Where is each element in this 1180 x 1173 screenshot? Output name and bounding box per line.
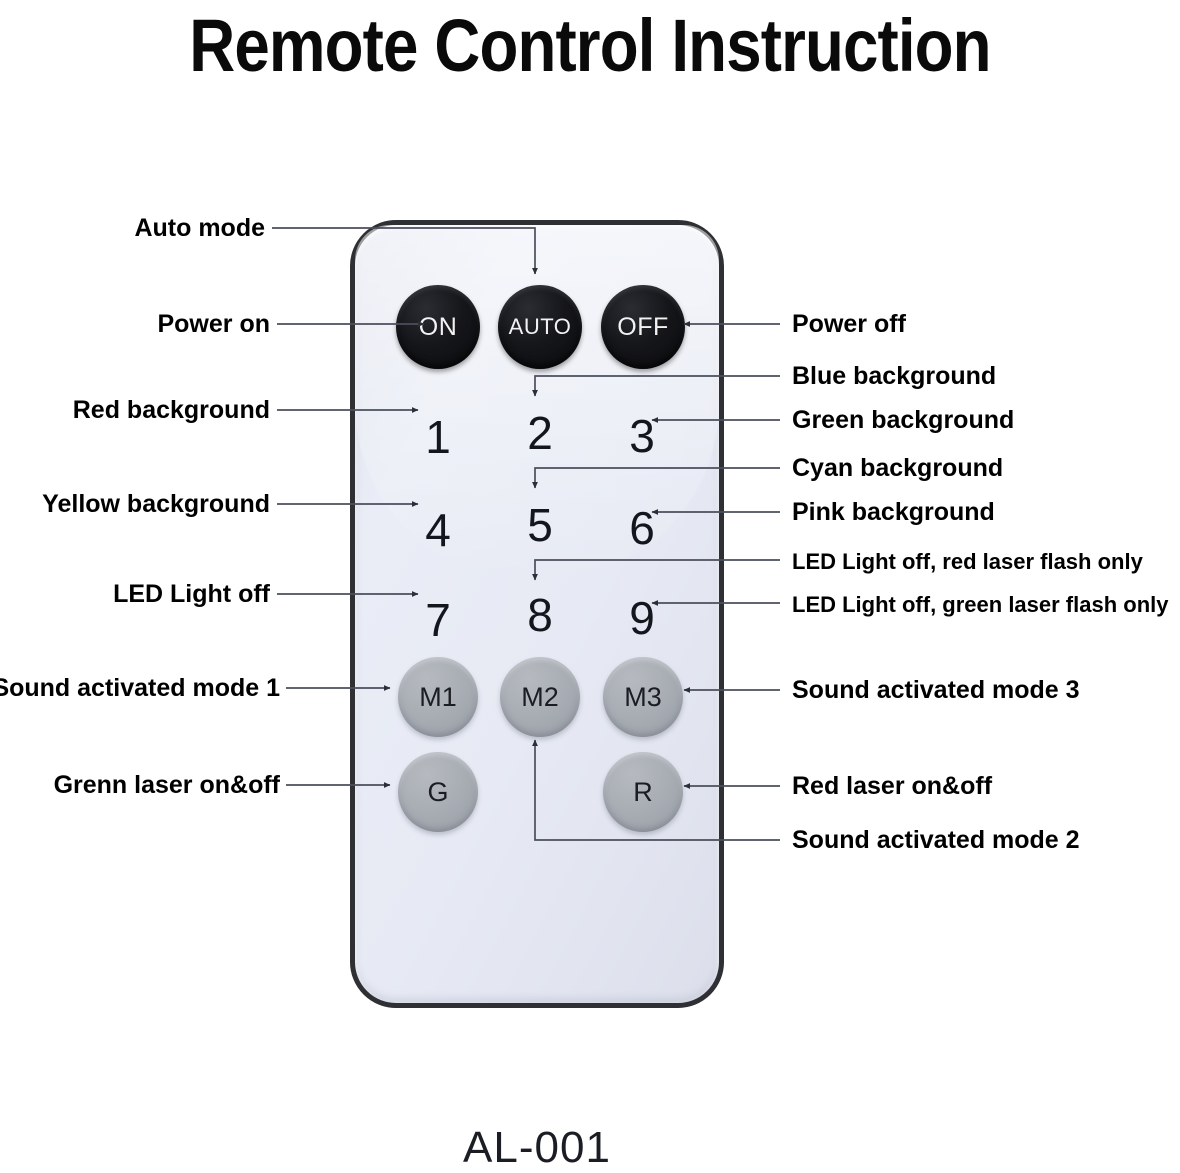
callout-yellow-background: Yellow background xyxy=(42,490,270,518)
button-auto-label: AUTO xyxy=(509,314,572,340)
button-6[interactable]: 6 xyxy=(612,501,672,555)
callout-cyan-background: Cyan background xyxy=(792,454,1003,482)
callout-auto-mode: Auto mode xyxy=(134,214,265,242)
callout-sound-mode-1: Sound activated mode 1 xyxy=(0,674,280,702)
button-4[interactable]: 4 xyxy=(408,503,468,557)
button-m2[interactable]: M2 xyxy=(500,657,580,737)
callout-led-off-red-laser: LED Light off, red laser flash only xyxy=(792,548,1143,576)
button-on[interactable]: ON xyxy=(396,285,480,369)
callout-sound-mode-2: Sound activated mode 2 xyxy=(792,826,1080,854)
button-1[interactable]: 1 xyxy=(408,410,468,464)
button-m3-label: M3 xyxy=(624,682,662,713)
remote-control-body: ON AUTO OFF 1 2 3 4 5 6 7 8 9 M1 M2 M3 G… xyxy=(350,220,724,1008)
button-3[interactable]: 3 xyxy=(612,409,672,463)
button-7[interactable]: 7 xyxy=(408,593,468,647)
button-auto[interactable]: AUTO xyxy=(498,285,582,369)
button-green-laser[interactable]: G xyxy=(398,752,478,832)
callout-led-off-green-laser: LED Light off, green laser flash only xyxy=(792,591,1169,619)
button-r-label: R xyxy=(633,777,653,808)
button-m3[interactable]: M3 xyxy=(603,657,683,737)
callout-led-light-off: LED Light off xyxy=(113,580,270,608)
callout-sound-mode-3: Sound activated mode 3 xyxy=(792,676,1080,704)
callout-red-background: Red background xyxy=(73,396,270,424)
page-title: Remote Control Instruction xyxy=(83,4,1098,88)
model-number-label: AL-001 xyxy=(355,1123,719,1173)
button-off-label: OFF xyxy=(617,313,669,342)
button-m1[interactable]: M1 xyxy=(398,657,478,737)
callout-pink-background: Pink background xyxy=(792,498,995,526)
button-9[interactable]: 9 xyxy=(612,591,672,645)
callout-green-background: Green background xyxy=(792,406,1014,434)
button-off[interactable]: OFF xyxy=(601,285,685,369)
callout-blue-background: Blue background xyxy=(792,362,996,390)
callout-red-laser: Red laser on&off xyxy=(792,772,992,800)
button-on-label: ON xyxy=(419,313,458,342)
button-5[interactable]: 5 xyxy=(510,498,570,552)
callout-green-laser: Grenn laser on&off xyxy=(54,771,280,799)
callout-power-off: Power off xyxy=(792,310,906,338)
button-g-label: G xyxy=(427,777,448,808)
button-red-laser[interactable]: R xyxy=(603,752,683,832)
callout-power-on: Power on xyxy=(157,310,270,338)
button-m2-label: M2 xyxy=(521,682,559,713)
button-2[interactable]: 2 xyxy=(510,406,570,460)
button-8[interactable]: 8 xyxy=(510,588,570,642)
button-m1-label: M1 xyxy=(419,682,457,713)
